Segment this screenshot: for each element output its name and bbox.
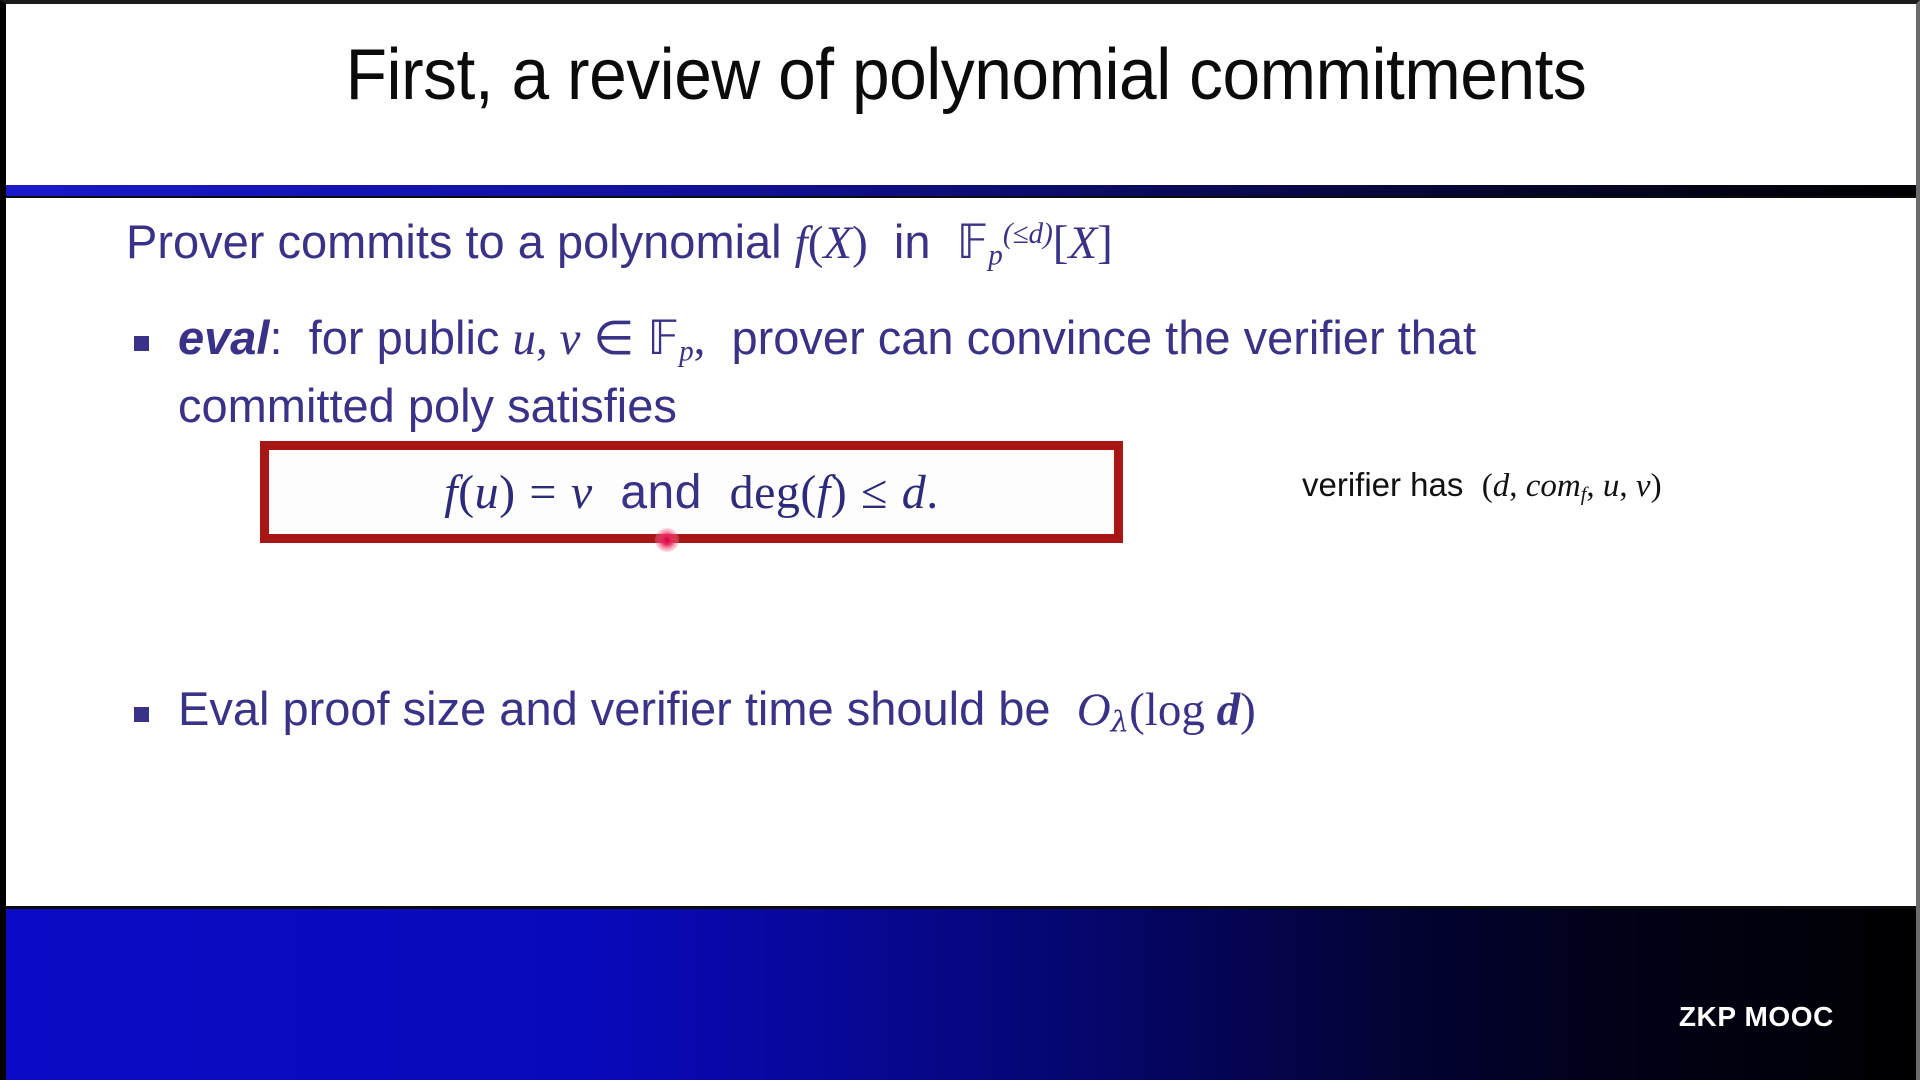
verifier-tuple-u: u xyxy=(1603,468,1620,504)
title-area: First, a review of polynomial commitment… xyxy=(6,4,1920,189)
verifier-tuple-v: v xyxy=(1636,468,1651,504)
formula-deg: deg( xyxy=(730,466,817,519)
math-comma-1: , xyxy=(536,313,560,365)
line-prover-commits: Prover commits to a polynomial f(X) in 𝔽… xyxy=(126,218,1113,271)
verifier-tuple-comma-2: , xyxy=(1586,468,1603,504)
verifier-has-note: verifier has (d, comf, u, v) xyxy=(1302,466,1662,507)
math-comma-2: , xyxy=(694,313,706,365)
math-bold-d: d xyxy=(1217,684,1241,736)
verifier-has-label: verifier has xyxy=(1302,466,1463,503)
bullet-item-eval-proof: Eval proof size and verifier time should… xyxy=(134,685,1256,737)
slide-canvas: First, a review of polynomial commitment… xyxy=(0,0,1920,1080)
verifier-tuple-com: com xyxy=(1526,468,1581,504)
formula-period: . xyxy=(926,466,939,519)
formula-paren-open: ( xyxy=(458,466,474,519)
math-field-bracket-close: ] xyxy=(1097,217,1113,269)
eval-text-b: prover can convince the verifier that xyxy=(732,311,1477,364)
footer-brand-label: ZKP MOOC xyxy=(1679,1001,1834,1033)
footer-bar: ZKP MOOC xyxy=(6,906,1920,1080)
math-field-blackboard-f: 𝔽 xyxy=(957,215,989,270)
math-field-bracket-x: [ xyxy=(1053,217,1069,269)
eval-colon: : xyxy=(269,311,282,364)
bullet-item-eval: eval: for public u, v ∈ 𝔽p, prover can c… xyxy=(134,314,1476,367)
bullet-eval-text: eval: for public u, v ∈ 𝔽p, prover can c… xyxy=(178,314,1476,367)
math-field-subscript-p: p xyxy=(988,239,1003,271)
math-element-of-icon: ∈ xyxy=(593,313,634,365)
formula-deg-close: ) xyxy=(831,466,847,519)
math-f-of-x: f xyxy=(795,217,808,269)
bullet-square-icon xyxy=(134,336,149,351)
formula-equals-icon: = xyxy=(529,466,557,519)
formula-paren-close: ) xyxy=(499,466,515,519)
verifier-tuple-comma-1: , xyxy=(1509,468,1526,504)
verifier-tuple-comma-3: , xyxy=(1619,468,1636,504)
math-blackboard-f-p: 𝔽 xyxy=(647,311,679,366)
formula-highlight-box: f(u) = v and deg(f) ≤ d. xyxy=(260,441,1123,543)
formula-v: v xyxy=(571,466,593,519)
page-title: First, a review of polynomial commitment… xyxy=(64,34,1869,116)
eval-keyword: eval xyxy=(178,311,269,364)
formula-text: f(u) = v and deg(f) ≤ d. xyxy=(444,465,938,520)
title-divider xyxy=(6,185,1920,196)
math-x-var: X xyxy=(823,217,852,269)
prover-prefix-text: Prover commits to a polynomial xyxy=(126,215,795,268)
eval-text-a: for public xyxy=(309,311,513,364)
verifier-tuple-close: ) xyxy=(1651,468,1662,504)
math-log-close: ) xyxy=(1240,684,1256,736)
formula-leq-icon: ≤ xyxy=(861,466,888,519)
verifier-tuple-d: d xyxy=(1493,468,1510,504)
math-f-parens: ( xyxy=(808,217,824,269)
math-f-parens-close: ) xyxy=(852,217,868,269)
formula-f: f xyxy=(444,466,458,519)
math-field-superscript-deg: (≤d) xyxy=(1003,218,1053,250)
formula-deg-f: f xyxy=(817,466,831,519)
verifier-tuple-open: ( xyxy=(1482,468,1493,504)
math-bracket-x-var: X xyxy=(1068,217,1097,269)
math-subscript-p: p xyxy=(679,335,694,367)
math-log-open: (log xyxy=(1129,684,1216,736)
math-v-var: v xyxy=(559,313,580,365)
formula-and-word: and xyxy=(620,466,702,519)
prover-connector-text: in xyxy=(894,215,931,268)
math-big-o: O xyxy=(1077,684,1111,736)
bullet-eval-proof-text: Eval proof size and verifier time should… xyxy=(178,685,1256,737)
eval-proof-sentence: Eval proof size and verifier time should… xyxy=(178,682,1064,735)
slide-body: Prover commits to a polynomial f(X) in 𝔽… xyxy=(6,196,1920,909)
math-u-var: u xyxy=(512,313,536,365)
bullet-square-icon xyxy=(134,707,149,722)
formula-u: u xyxy=(475,466,500,519)
formula-d: d xyxy=(902,466,927,519)
line-committed-poly: committed poly satisfies xyxy=(178,382,677,429)
math-lambda-subscript: λ xyxy=(1111,704,1129,738)
